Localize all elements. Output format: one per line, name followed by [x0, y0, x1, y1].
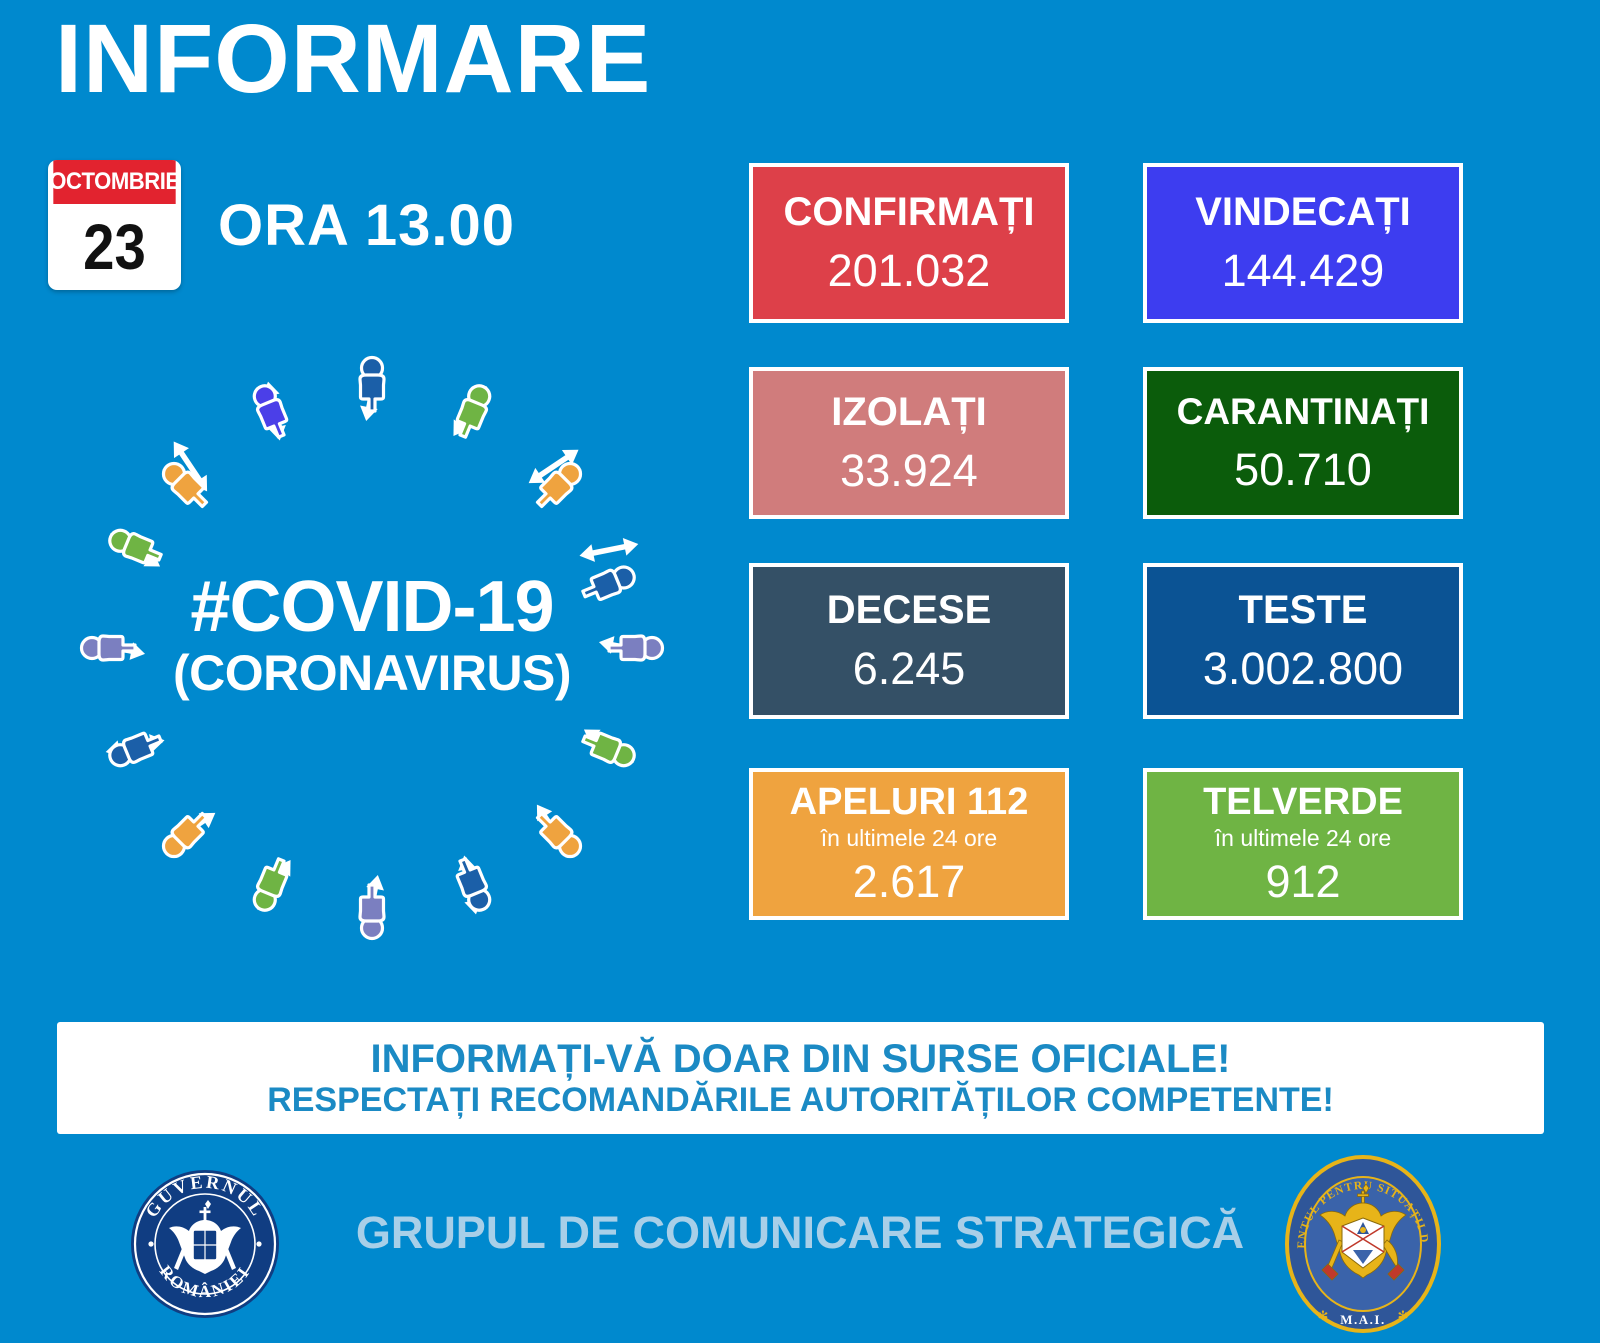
calendar-day-label: 23 [56, 204, 173, 290]
infographic-page: INFORMARE OCTOMBRIE 23 ORA 13.00 [0, 0, 1600, 1343]
person-figure [158, 807, 213, 862]
person-figure [531, 807, 586, 862]
stat-value-izolati: 33.924 [840, 447, 978, 494]
stat-label-izolati: IZOLAȚI [831, 391, 987, 433]
calendar-month-label: OCTOMBRIE [53, 160, 175, 204]
person-figure [82, 636, 136, 660]
stat-value-telverde: 912 [1265, 858, 1340, 905]
person-figure [106, 728, 165, 771]
stat-card-telverde: TELVERDE în ultimele 24 ore 912 [1143, 768, 1463, 920]
advisory-line-2: RESPECTAȚI RECOMANDĂRILE AUTORITĂȚILOR C… [267, 1081, 1334, 1119]
stat-value-vindecati: 144.429 [1222, 247, 1385, 294]
advisory-banner: INFORMAȚI-VĂ DOAR DIN SURSE OFICIALE! RE… [57, 1022, 1544, 1134]
person-figure [250, 382, 293, 441]
stat-label-vindecati: VINDECAȚI [1195, 191, 1411, 233]
stat-sublabel-telverde: în ultimele 24 ore [1215, 825, 1391, 851]
stat-value-decese: 6.245 [853, 645, 966, 692]
stat-card-teste: TESTE 3.002.800 [1143, 563, 1463, 719]
circle-figures-svg [62, 338, 682, 958]
person-figure [360, 885, 384, 939]
calendar-icon: OCTOMBRIE 23 [48, 160, 181, 290]
svg-text:✻: ✻ [1398, 1308, 1409, 1323]
advisory-line-1: INFORMAȚI-VĂ DOAR DIN SURSE OFICIALE! [371, 1037, 1231, 1082]
stat-card-izolati: IZOLAȚI 33.924 [749, 367, 1069, 519]
person-figure [452, 855, 495, 914]
stat-card-vindecati: VINDECAȚI 144.429 [1143, 163, 1463, 323]
hour-label: ORA 13.00 [218, 192, 515, 259]
stat-label-teste: TESTE [1239, 589, 1368, 631]
dsu-mai-seal: DEPARTAMENTUL PENTRU SITUAȚII DE URGENȚĂ… [1283, 1152, 1443, 1335]
person-figure [609, 636, 663, 660]
stat-value-carantinati: 50.710 [1234, 446, 1372, 493]
people-figures [82, 358, 663, 939]
page-title: INFORMARE [55, 8, 651, 110]
stat-value-teste: 3.002.800 [1203, 645, 1403, 692]
svg-text:✻: ✻ [1318, 1308, 1329, 1323]
stat-card-carantinati: CARANTINAȚI 50.710 [1143, 367, 1463, 519]
stat-label-decese: DECESE [827, 589, 992, 631]
stat-label-apeluri: APELURI 112 [790, 783, 1029, 823]
person-figure [360, 358, 384, 412]
stat-label-telverde: TELVERDE [1203, 783, 1403, 823]
stat-label-carantinati: CARANTINAȚI [1177, 393, 1430, 432]
stat-card-confirmati: CONFIRMAȚI 201.032 [749, 163, 1069, 323]
seal-dsu-bottom-text: M.A.I. [1340, 1312, 1385, 1327]
stat-value-apeluri: 2.617 [853, 858, 966, 905]
stat-sublabel-apeluri: în ultimele 24 ore [821, 825, 997, 851]
social-distancing-circle-graphic: #COVID-19 (CORONAVIRUS) [62, 338, 682, 958]
stat-label-confirmati: CONFIRMAȚI [783, 191, 1034, 233]
stat-value-confirmati: 201.032 [828, 247, 991, 294]
stat-card-decese: DECESE 6.245 [749, 563, 1069, 719]
stat-card-apeluri: APELURI 112 în ultimele 24 ore 2.617 [749, 768, 1069, 920]
person-figure [579, 562, 638, 605]
